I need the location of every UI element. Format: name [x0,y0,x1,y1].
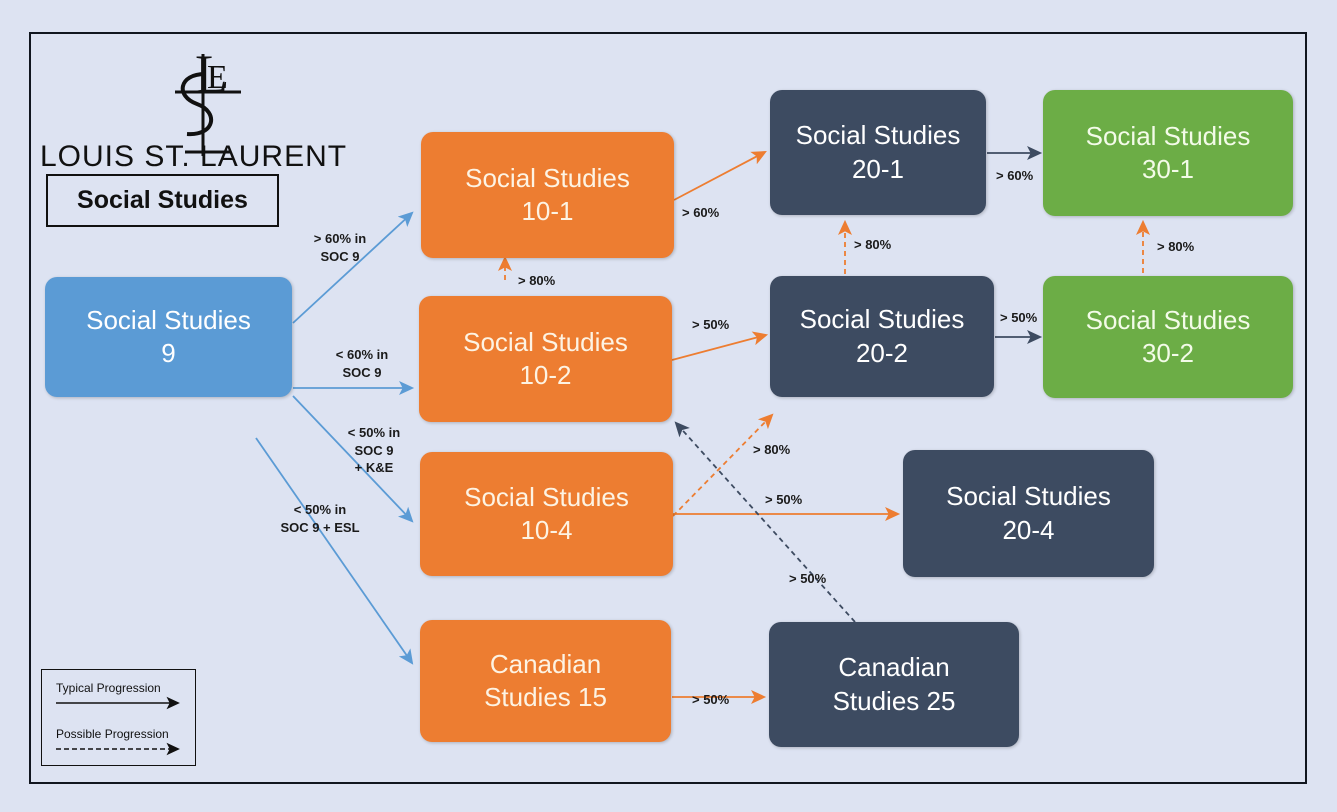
legend-typical-label: Typical Progression [56,681,161,695]
edge-label-cdn-25-to-10-4: > 50% [789,570,849,588]
edge-label-10-1-to-20-1: > 60% [682,204,742,222]
node-social-studies-10-4[interactable]: Social Studies 10-4 [420,452,673,576]
edge-label-10-2-to-10-1: > 80% [518,272,578,290]
node-line-2: 20-4 [1002,514,1054,547]
node-line-1: Canadian [838,651,949,684]
school-logo: L E LOUIS ST. LAURENT Social Studies [40,52,330,230]
node-line-1: Social Studies [86,304,251,337]
node-social-studies-20-2[interactable]: Social Studies 20-2 [770,276,994,397]
node-line-2: Studies 15 [484,681,607,714]
node-line-1: Canadian [490,648,601,681]
edge-label-20-1-to-30-1: > 60% [996,167,1056,185]
edge-label-20-2-to-30-2: > 50% [1000,309,1060,327]
node-social-studies-10-1[interactable]: Social Studies 10-1 [421,132,674,258]
node-line-2: 20-2 [856,337,908,370]
node-social-studies-20-1[interactable]: Social Studies 20-1 [770,90,986,215]
node-line-1: Social Studies [463,326,628,359]
diagram-canvas: L E LOUIS ST. LAURENT Social Studies [0,0,1337,812]
node-line-2: 10-2 [519,359,571,392]
node-line-1: Social Studies [1086,304,1251,337]
node-line-2: 20-1 [852,153,904,186]
school-wordmark: LOUIS ST. LAURENT [40,140,330,174]
node-canadian-studies-15[interactable]: Canadian Studies 15 [420,620,671,742]
svg-text:E: E [207,59,228,96]
node-line-1: Social Studies [1086,120,1251,153]
edge-label-10-4-to-20-2: > 80% [753,441,813,459]
node-line-2: 30-1 [1142,153,1194,186]
node-line-2: 9 [161,337,175,370]
subject-title: Social Studies [77,186,248,215]
edge-label-10-2-to-20-2: > 50% [692,316,752,334]
edge-label-soc9-to-10-4: < 50% in SOC 9 + K&E [326,424,422,477]
node-social-studies-9[interactable]: Social Studies 9 [45,277,292,397]
node-line-2: 10-1 [521,195,573,228]
subject-title-box: Social Studies [46,174,279,227]
node-social-studies-10-2[interactable]: Social Studies 10-2 [419,296,672,422]
node-line-1: Social Studies [800,303,965,336]
legend-possible-label: Possible Progression [56,727,169,741]
node-line-1: Social Studies [465,162,630,195]
node-social-studies-20-4[interactable]: Social Studies 20-4 [903,450,1154,577]
node-line-1: Social Studies [464,481,629,514]
node-line-2: 30-2 [1142,337,1194,370]
node-line-1: Social Studies [796,119,961,152]
edge-label-30-2-to-30-1: > 80% [1157,238,1217,256]
edge-label-soc9-to-10-1: > 60% in SOC 9 [290,230,390,265]
node-canadian-studies-25[interactable]: Canadian Studies 25 [769,622,1019,747]
node-social-studies-30-2[interactable]: Social Studies 30-2 [1043,276,1293,398]
edge-label-10-4-to-20-4: > 50% [765,491,825,509]
edge-label-soc9-to-10-2: < 60% in SOC 9 [312,346,412,381]
node-line-1: Social Studies [946,480,1111,513]
edge-label-cdn-15-to-cdn-25: > 50% [692,691,752,709]
node-social-studies-30-1[interactable]: Social Studies 30-1 [1043,90,1293,216]
edge-label-20-2-to-20-1: > 80% [854,236,914,254]
node-line-2: Studies 25 [833,685,956,718]
node-line-2: 10-4 [520,514,572,547]
edge-label-soc9-to-cdn-15: < 50% in SOC 9 + ESL [254,501,386,536]
